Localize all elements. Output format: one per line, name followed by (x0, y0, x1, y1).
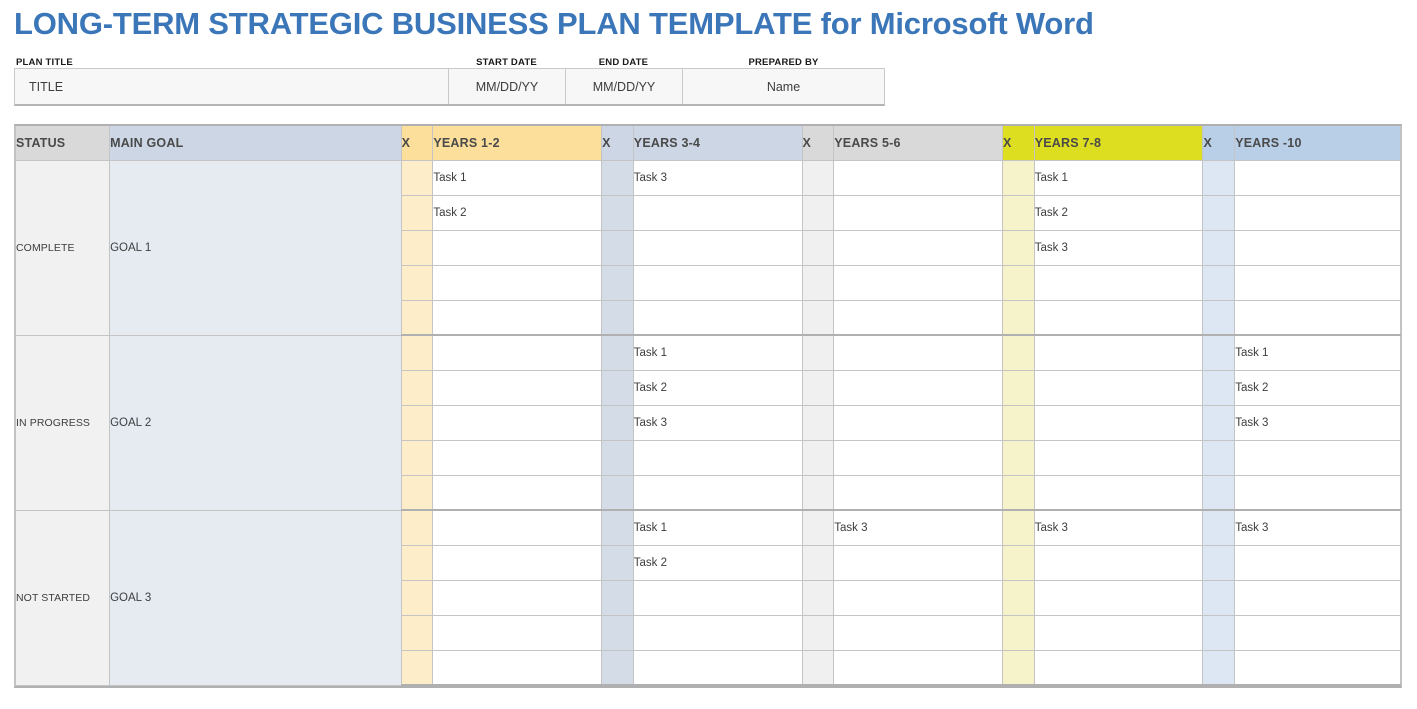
plan-meta-form: PLAN TITLE START DATE END DATE PREPARED … (14, 52, 885, 106)
task-cell-period-3[interactable] (834, 650, 1003, 685)
task-cell-period-5[interactable] (1235, 160, 1401, 195)
checkbox-cell-period-2[interactable] (602, 370, 634, 405)
checkbox-cell-period-5[interactable] (1203, 405, 1235, 440)
plan-table-head: STATUS MAIN GOAL X YEARS 1-2 X YEARS 3-4… (16, 126, 1401, 160)
label-plan-title: PLAN TITLE (14, 57, 448, 68)
task-cell-period-2[interactable]: Task 1 (633, 335, 802, 370)
checkbox-cell-period-2[interactable] (602, 265, 634, 300)
task-cell-period-1[interactable] (433, 405, 602, 440)
task-cell-period-2[interactable]: Task 3 (633, 405, 802, 440)
checkbox-cell-period-3[interactable] (802, 615, 834, 650)
checkbox-cell-period-5[interactable] (1203, 650, 1235, 685)
plan-table-body: COMPLETEGOAL 1Task 1Task 3Task 1Task 2Ta… (16, 160, 1401, 685)
checkbox-cell-period-1[interactable] (401, 300, 433, 335)
checkbox-cell-period-5[interactable] (1203, 545, 1235, 580)
task-cell-period-4[interactable] (1034, 580, 1203, 615)
checkbox-cell-period-3[interactable] (802, 650, 834, 685)
checkbox-cell-period-3[interactable] (802, 440, 834, 475)
start-date-input[interactable]: MM/DD/YY (449, 69, 566, 104)
task-cell-period-1[interactable] (433, 510, 602, 545)
label-prepared-by: PREPARED BY (682, 57, 885, 68)
plan-meta-fields: TITLE MM/DD/YY MM/DD/YY Name (14, 68, 885, 106)
task-cell-period-2[interactable] (633, 615, 802, 650)
checkbox-cell-period-4[interactable] (1003, 160, 1035, 195)
task-cell-period-2[interactable]: Task 2 (633, 545, 802, 580)
prepared-by-input[interactable]: Name (683, 69, 884, 104)
checkbox-cell-period-5[interactable] (1203, 335, 1235, 370)
task-cell-period-3[interactable] (834, 300, 1003, 335)
task-cell-period-2[interactable]: Task 1 (633, 510, 802, 545)
checkbox-cell-period-5[interactable] (1203, 475, 1235, 510)
task-cell-period-4[interactable]: Task 3 (1034, 510, 1203, 545)
plan-meta-labels: PLAN TITLE START DATE END DATE PREPARED … (14, 52, 885, 68)
task-cell-period-1[interactable] (433, 370, 602, 405)
checkbox-cell-period-4[interactable] (1003, 440, 1035, 475)
task-cell-period-5[interactable]: Task 2 (1235, 370, 1401, 405)
task-cell-period-5[interactable]: Task 1 (1235, 335, 1401, 370)
task-cell-period-1[interactable] (433, 580, 602, 615)
task-cell-period-1[interactable] (433, 650, 602, 685)
task-cell-period-5[interactable] (1235, 545, 1401, 580)
task-cell-period-2[interactable] (633, 195, 802, 230)
task-cell-period-1[interactable]: Task 2 (433, 195, 602, 230)
column-header-period-3: YEARS 5-6 (834, 126, 1003, 160)
task-cell-period-3[interactable] (834, 475, 1003, 510)
checkbox-cell-period-2[interactable] (602, 195, 634, 230)
checkbox-cell-period-4[interactable] (1003, 230, 1035, 265)
column-header-period-5: YEARS -10 (1235, 126, 1401, 160)
checkbox-cell-period-2[interactable] (602, 510, 634, 545)
checkbox-cell-period-4[interactable] (1003, 650, 1035, 685)
checkbox-cell-period-3[interactable] (802, 160, 834, 195)
task-cell-period-1[interactable] (433, 440, 602, 475)
table-row: IN PROGRESSGOAL 2Task 1Task 1 (16, 335, 1401, 370)
checkbox-cell-period-2[interactable] (602, 335, 634, 370)
checkbox-cell-period-1[interactable] (401, 405, 433, 440)
checkbox-cell-period-1[interactable] (401, 370, 433, 405)
task-cell-period-5[interactable] (1235, 265, 1401, 300)
page-title-main: LONG-TERM STRATEGIC BUSINESS PLAN TEMPLA… (14, 6, 812, 41)
task-cell-period-1[interactable] (433, 265, 602, 300)
checkbox-cell-period-3[interactable] (802, 195, 834, 230)
checkbox-cell-period-5[interactable] (1203, 265, 1235, 300)
checkbox-cell-period-3[interactable] (802, 300, 834, 335)
main-goal-cell[interactable]: GOAL 1 (110, 160, 402, 335)
task-cell-period-4[interactable] (1034, 370, 1203, 405)
task-cell-period-1[interactable] (433, 335, 602, 370)
checkbox-cell-period-3[interactable] (802, 265, 834, 300)
table-row: NOT STARTEDGOAL 3Task 1Task 3Task 3Task … (16, 510, 1401, 545)
checkbox-cell-period-1[interactable] (401, 230, 433, 265)
task-cell-period-4[interactable] (1034, 300, 1203, 335)
checkbox-cell-period-4[interactable] (1003, 300, 1035, 335)
page-title: LONG-TERM STRATEGIC BUSINESS PLAN TEMPLA… (14, 6, 1094, 42)
checkbox-cell-period-2[interactable] (602, 405, 634, 440)
task-cell-period-5[interactable] (1235, 615, 1401, 650)
checkbox-cell-period-3[interactable] (802, 545, 834, 580)
task-cell-period-2[interactable] (633, 475, 802, 510)
plan-grid: STATUS MAIN GOAL X YEARS 1-2 X YEARS 3-4… (14, 124, 1402, 688)
checkbox-cell-period-1[interactable] (401, 440, 433, 475)
checkbox-cell-period-1[interactable] (401, 160, 433, 195)
checkbox-cell-period-1[interactable] (401, 265, 433, 300)
task-cell-period-2[interactable] (633, 265, 802, 300)
task-cell-period-3[interactable] (834, 195, 1003, 230)
task-cell-period-5[interactable] (1235, 650, 1401, 685)
column-header-period-1: YEARS 1-2 (433, 126, 602, 160)
column-header-x-3: X (802, 126, 834, 160)
column-header-x-1: X (401, 126, 433, 160)
checkbox-cell-period-5[interactable] (1203, 440, 1235, 475)
main-goal-cell[interactable]: GOAL 3 (110, 510, 402, 685)
task-cell-period-3[interactable] (834, 265, 1003, 300)
table-row: COMPLETEGOAL 1Task 1Task 3Task 1 (16, 160, 1401, 195)
checkbox-cell-period-4[interactable] (1003, 545, 1035, 580)
checkbox-cell-period-4[interactable] (1003, 475, 1035, 510)
task-cell-period-5[interactable] (1235, 475, 1401, 510)
checkbox-cell-period-4[interactable] (1003, 265, 1035, 300)
task-cell-period-2[interactable] (633, 650, 802, 685)
checkbox-cell-period-3[interactable] (802, 335, 834, 370)
task-cell-period-2[interactable] (633, 440, 802, 475)
header-row: STATUS MAIN GOAL X YEARS 1-2 X YEARS 3-4… (16, 126, 1401, 160)
checkbox-cell-period-1[interactable] (401, 475, 433, 510)
checkbox-cell-period-2[interactable] (602, 230, 634, 265)
task-cell-period-2[interactable] (633, 230, 802, 265)
checkbox-cell-period-4[interactable] (1003, 615, 1035, 650)
task-cell-period-4[interactable] (1034, 335, 1203, 370)
checkbox-cell-period-2[interactable] (602, 300, 634, 335)
checkbox-cell-period-4[interactable] (1003, 370, 1035, 405)
status-badge[interactable]: NOT STARTED (16, 510, 110, 685)
checkbox-cell-period-4[interactable] (1003, 335, 1035, 370)
task-cell-period-3[interactable] (834, 405, 1003, 440)
task-cell-period-3[interactable] (834, 370, 1003, 405)
column-header-x-4: X (1003, 126, 1035, 160)
task-cell-period-4[interactable] (1034, 440, 1203, 475)
checkbox-cell-period-4[interactable] (1003, 510, 1035, 545)
page-title-suffix: for Microsoft Word (812, 6, 1094, 41)
task-cell-period-5[interactable]: Task 3 (1235, 510, 1401, 545)
column-header-x-2: X (602, 126, 634, 160)
checkbox-cell-period-5[interactable] (1203, 160, 1235, 195)
task-cell-period-3[interactable] (834, 230, 1003, 265)
checkbox-cell-period-1[interactable] (401, 650, 433, 685)
checkbox-cell-period-5[interactable] (1203, 615, 1235, 650)
task-cell-period-5[interactable] (1235, 300, 1401, 335)
main-goal-cell[interactable]: GOAL 2 (110, 335, 402, 510)
task-cell-period-2[interactable] (633, 580, 802, 615)
task-cell-period-2[interactable]: Task 2 (633, 370, 802, 405)
checkbox-cell-period-5[interactable] (1203, 230, 1235, 265)
checkbox-cell-period-1[interactable] (401, 545, 433, 580)
checkbox-cell-period-1[interactable] (401, 195, 433, 230)
checkbox-cell-period-4[interactable] (1003, 405, 1035, 440)
checkbox-cell-period-1[interactable] (401, 615, 433, 650)
task-cell-period-3[interactable] (834, 160, 1003, 195)
checkbox-cell-period-1[interactable] (401, 335, 433, 370)
task-cell-period-3[interactable] (834, 615, 1003, 650)
checkbox-cell-period-1[interactable] (401, 510, 433, 545)
column-header-main-goal: MAIN GOAL (110, 126, 402, 160)
column-header-period-4: YEARS 7-8 (1034, 126, 1203, 160)
task-cell-period-4[interactable]: Task 2 (1034, 195, 1203, 230)
checkbox-cell-period-5[interactable] (1203, 300, 1235, 335)
task-cell-period-3[interactable] (834, 335, 1003, 370)
task-cell-period-4[interactable] (1034, 545, 1203, 580)
label-end-date: END DATE (565, 57, 682, 68)
checkbox-cell-period-5[interactable] (1203, 580, 1235, 615)
page-root: LONG-TERM STRATEGIC BUSINESS PLAN TEMPLA… (0, 0, 1417, 709)
checkbox-cell-period-2[interactable] (602, 580, 634, 615)
task-cell-period-4[interactable] (1034, 650, 1203, 685)
checkbox-cell-period-2[interactable] (602, 615, 634, 650)
task-cell-period-2[interactable]: Task 3 (633, 160, 802, 195)
task-cell-period-5[interactable] (1235, 195, 1401, 230)
status-badge[interactable]: COMPLETE (16, 160, 110, 335)
checkbox-cell-period-2[interactable] (602, 475, 634, 510)
task-cell-period-3[interactable] (834, 440, 1003, 475)
plan-table: STATUS MAIN GOAL X YEARS 1-2 X YEARS 3-4… (15, 126, 1401, 686)
column-header-status: STATUS (16, 126, 110, 160)
task-cell-period-5[interactable] (1235, 230, 1401, 265)
task-cell-period-1[interactable] (433, 230, 602, 265)
checkbox-cell-period-5[interactable] (1203, 370, 1235, 405)
checkbox-cell-period-4[interactable] (1003, 580, 1035, 615)
task-cell-period-3[interactable] (834, 580, 1003, 615)
checkbox-cell-period-5[interactable] (1203, 195, 1235, 230)
status-badge[interactable]: IN PROGRESS (16, 335, 110, 510)
checkbox-cell-period-4[interactable] (1003, 195, 1035, 230)
plan-title-input[interactable]: TITLE (15, 69, 449, 104)
task-cell-period-5[interactable]: Task 3 (1235, 405, 1401, 440)
task-cell-period-3[interactable] (834, 545, 1003, 580)
checkbox-cell-period-1[interactable] (401, 580, 433, 615)
task-cell-period-4[interactable]: Task 3 (1034, 230, 1203, 265)
task-cell-period-4[interactable] (1034, 615, 1203, 650)
task-cell-period-4[interactable]: Task 1 (1034, 160, 1203, 195)
checkbox-cell-period-2[interactable] (602, 440, 634, 475)
task-cell-period-5[interactable] (1235, 440, 1401, 475)
checkbox-cell-period-5[interactable] (1203, 510, 1235, 545)
checkbox-cell-period-3[interactable] (802, 230, 834, 265)
task-cell-period-1[interactable] (433, 615, 602, 650)
task-cell-period-3[interactable]: Task 3 (834, 510, 1003, 545)
column-header-period-2: YEARS 3-4 (633, 126, 802, 160)
task-cell-period-1[interactable] (433, 475, 602, 510)
task-cell-period-1[interactable] (433, 545, 602, 580)
task-cell-period-5[interactable] (1235, 580, 1401, 615)
checkbox-cell-period-3[interactable] (802, 510, 834, 545)
checkbox-cell-period-3[interactable] (802, 405, 834, 440)
checkbox-cell-period-2[interactable] (602, 160, 634, 195)
label-start-date: START DATE (448, 57, 565, 68)
task-cell-period-4[interactable] (1034, 475, 1203, 510)
checkbox-cell-period-2[interactable] (602, 545, 634, 580)
column-header-x-5: X (1203, 126, 1235, 160)
checkbox-cell-period-3[interactable] (802, 580, 834, 615)
checkbox-cell-period-2[interactable] (602, 650, 634, 685)
task-cell-period-1[interactable]: Task 1 (433, 160, 602, 195)
task-cell-period-1[interactable] (433, 300, 602, 335)
checkbox-cell-period-3[interactable] (802, 475, 834, 510)
task-cell-period-4[interactable] (1034, 265, 1203, 300)
task-cell-period-4[interactable] (1034, 405, 1203, 440)
task-cell-period-2[interactable] (633, 300, 802, 335)
checkbox-cell-period-3[interactable] (802, 370, 834, 405)
end-date-input[interactable]: MM/DD/YY (566, 69, 683, 104)
